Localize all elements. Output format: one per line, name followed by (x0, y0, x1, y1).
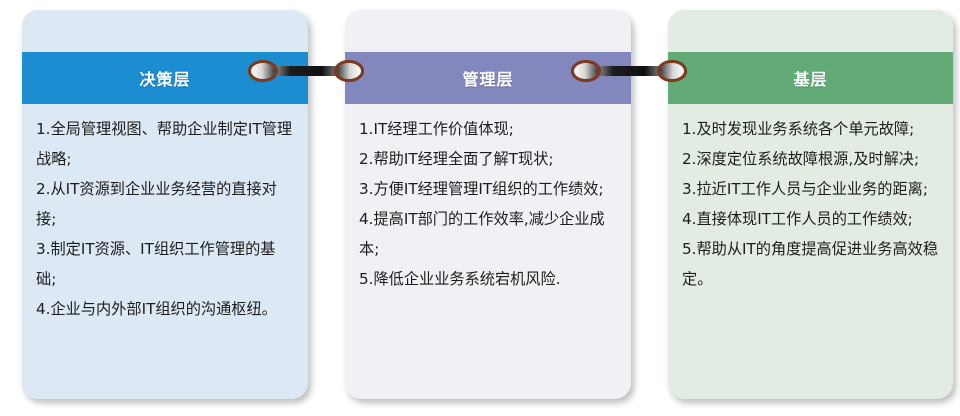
list-item: 5.降低企业业务系统宕机风险. (359, 264, 617, 294)
card-title-management-layer: 管理层 (462, 66, 513, 90)
card-title-decision-layer: 决策层 (139, 66, 190, 90)
list-item: 4.提高IT部门的工作效率,减少企业成本; (359, 204, 617, 264)
list-item: 1.IT经理工作价值体现; (359, 114, 617, 144)
connector-link-icon (571, 56, 687, 86)
list-item: 3.拉近IT工作人员与企业业务的距离; (682, 174, 939, 204)
card-base-layer[interactable]: 基层 1.及时发现业务系统各个单元故障; 2.深度定位系统故障根源,及时解决; … (668, 10, 953, 399)
card-title-base-layer: 基层 (793, 66, 827, 90)
list-item: 1.全局管理视图、帮助企业制定IT管理战略; (36, 114, 294, 174)
list-item: 4.直接体现IT工作人员的工作绩效; (682, 204, 939, 234)
card-header-base-layer: 基层 (668, 52, 953, 104)
list-item: 4.企业与内外部IT组织的沟通枢纽。 (36, 294, 294, 324)
card-body-base-layer: 1.及时发现业务系统各个单元故障; 2.深度定位系统故障根源,及时解决; 3.拉… (668, 104, 953, 399)
list-item: 2.从IT资源到企业业务经营的直接对接; (36, 174, 294, 234)
diagram-canvas: 决策层 1.全局管理视图、帮助企业制定IT管理战略; 2.从IT资源到企业业务经… (0, 0, 960, 416)
list-item: 3.制定IT资源、IT组织工作管理的基础; (36, 234, 294, 294)
list-item: 1.及时发现业务系统各个单元故障; (682, 114, 939, 144)
card-body-management-layer: 1.IT经理工作价值体现; 2.帮助IT经理全面了解T现状; 3.方便IT经理管… (345, 104, 631, 399)
list-item: 5.帮助从IT的角度提高促进业务高效稳定。 (682, 234, 939, 294)
list-item: 2.深度定位系统故障根源,及时解决; (682, 144, 939, 174)
card-body-decision-layer: 1.全局管理视图、帮助企业制定IT管理战略; 2.从IT资源到企业业务经营的直接… (22, 104, 308, 399)
list-item: 3.方便IT经理管理IT组织的工作绩效; (359, 174, 617, 204)
list-item: 2.帮助IT经理全面了解T现状; (359, 144, 617, 174)
connector-link-icon (248, 56, 364, 86)
